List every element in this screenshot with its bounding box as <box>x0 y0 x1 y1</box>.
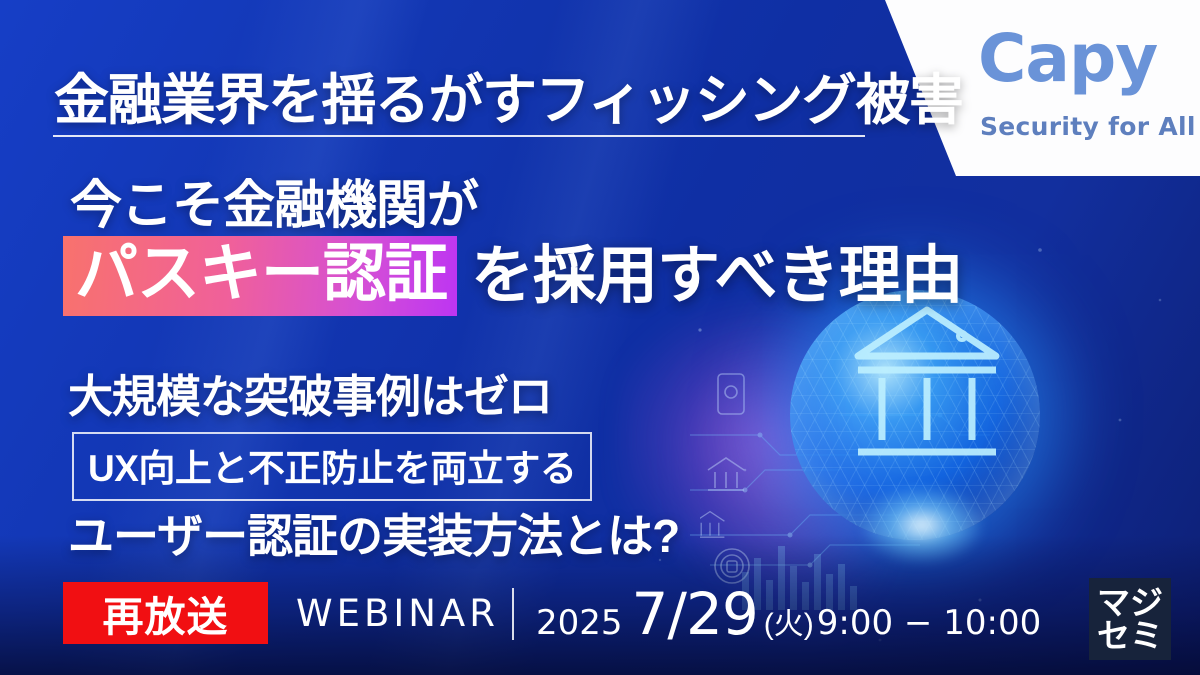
majisemi-logo: マジ セミ <box>1089 578 1171 660</box>
headline-line3-rest: を採用すべき理由 <box>471 242 963 310</box>
webinar-banner: Capy Security for All 金融業界を揺るがすフィッシング被害 … <box>0 0 1200 675</box>
passkey-highlight: パスキー認証 <box>63 236 457 316</box>
majisemi-line2: セミ <box>1097 619 1163 652</box>
headline-line6: ユーザー認証の実装方法とは? <box>68 500 679 566</box>
headline-line3: パスキー認証 を採用すべき理由 <box>63 236 963 316</box>
event-day-of-week: (火) <box>764 599 814 643</box>
event-time-range: 9:00 − 10:00 <box>817 603 1041 643</box>
event-year: 2025 <box>536 603 623 643</box>
capy-tagline: Security for All <box>980 112 1196 141</box>
capy-wordmark: Capy <box>978 26 1157 92</box>
footer-separator <box>512 588 514 640</box>
headline-kicker: 金融業界を揺るがすフィッシング被害 <box>54 55 962 135</box>
webinar-label: WEBINAR <box>296 592 499 635</box>
event-month-day: 7/29 <box>632 580 758 648</box>
headline-boxed-line: UX向上と不正防止を両立する <box>72 432 592 501</box>
rebroadcast-badge: 再放送 <box>63 582 268 644</box>
event-datetime: 2025 7/29 (火) 9:00 − 10:00 <box>536 580 1041 648</box>
majisemi-line1: マジ <box>1097 586 1163 619</box>
headline-line4: 大規模な突破事例はゼロ <box>68 360 552 425</box>
headline-line2: 今こそ金融機関が <box>70 163 478 238</box>
headline-divider <box>53 135 865 137</box>
